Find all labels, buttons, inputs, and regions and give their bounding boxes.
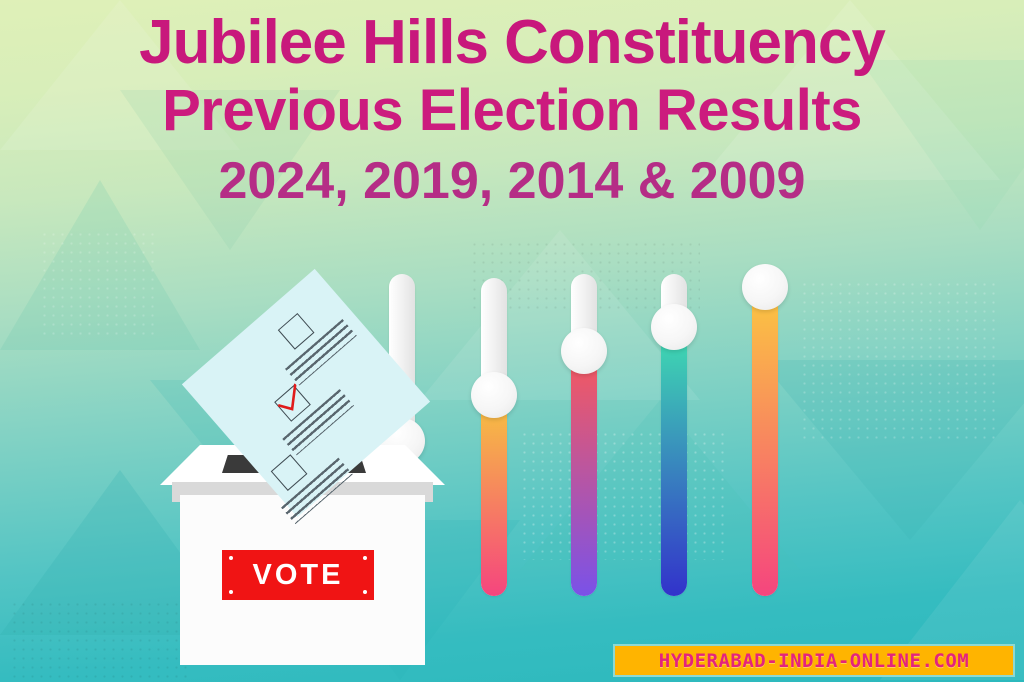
vote-sign-label: VOTE: [253, 559, 344, 592]
page-title-line-1: Jubilee Hills Constituency: [0, 8, 1024, 78]
slider-2-knob[interactable]: [471, 372, 517, 418]
vote-sign-pin: [229, 556, 233, 560]
check-mark-icon: [271, 382, 308, 418]
site-watermark: HYDERABAD-INDIA-ONLINE.COM: [613, 644, 1015, 677]
vote-sign: VOTE: [222, 550, 374, 600]
vote-sign-pin: [229, 590, 233, 594]
slider-5-fill: [752, 287, 778, 596]
vote-sign-pin: [363, 556, 367, 560]
slider-2-fill: [481, 395, 507, 596]
site-watermark-text: HYDERABAD-INDIA-ONLINE.COM: [659, 650, 969, 672]
slider-4-knob[interactable]: [651, 304, 697, 350]
ballot-checkbox-1: [278, 313, 315, 350]
slider-4-fill: [661, 327, 687, 596]
halftone-dots-light: [800, 280, 1000, 440]
halftone-dots-light: [40, 230, 160, 340]
slider-3-knob[interactable]: [561, 328, 607, 374]
slider-5-knob[interactable]: [742, 264, 788, 310]
page-title-line-3: 2024, 2019, 2014 & 2009: [0, 150, 1024, 212]
bg-triangle: [760, 360, 1024, 540]
title-block: Jubilee Hills Constituency Previous Elec…: [0, 8, 1024, 212]
halftone-dots-light: [520, 430, 730, 560]
vote-sign-pin: [363, 590, 367, 594]
page-title-line-2: Previous Election Results: [0, 78, 1024, 144]
ballot-box-illustration: VOTE: [150, 295, 450, 670]
slider-3-fill: [571, 351, 597, 596]
poster-canvas: Jubilee Hills Constituency Previous Elec…: [0, 0, 1024, 682]
ballot-checkbox-3: [271, 454, 308, 491]
